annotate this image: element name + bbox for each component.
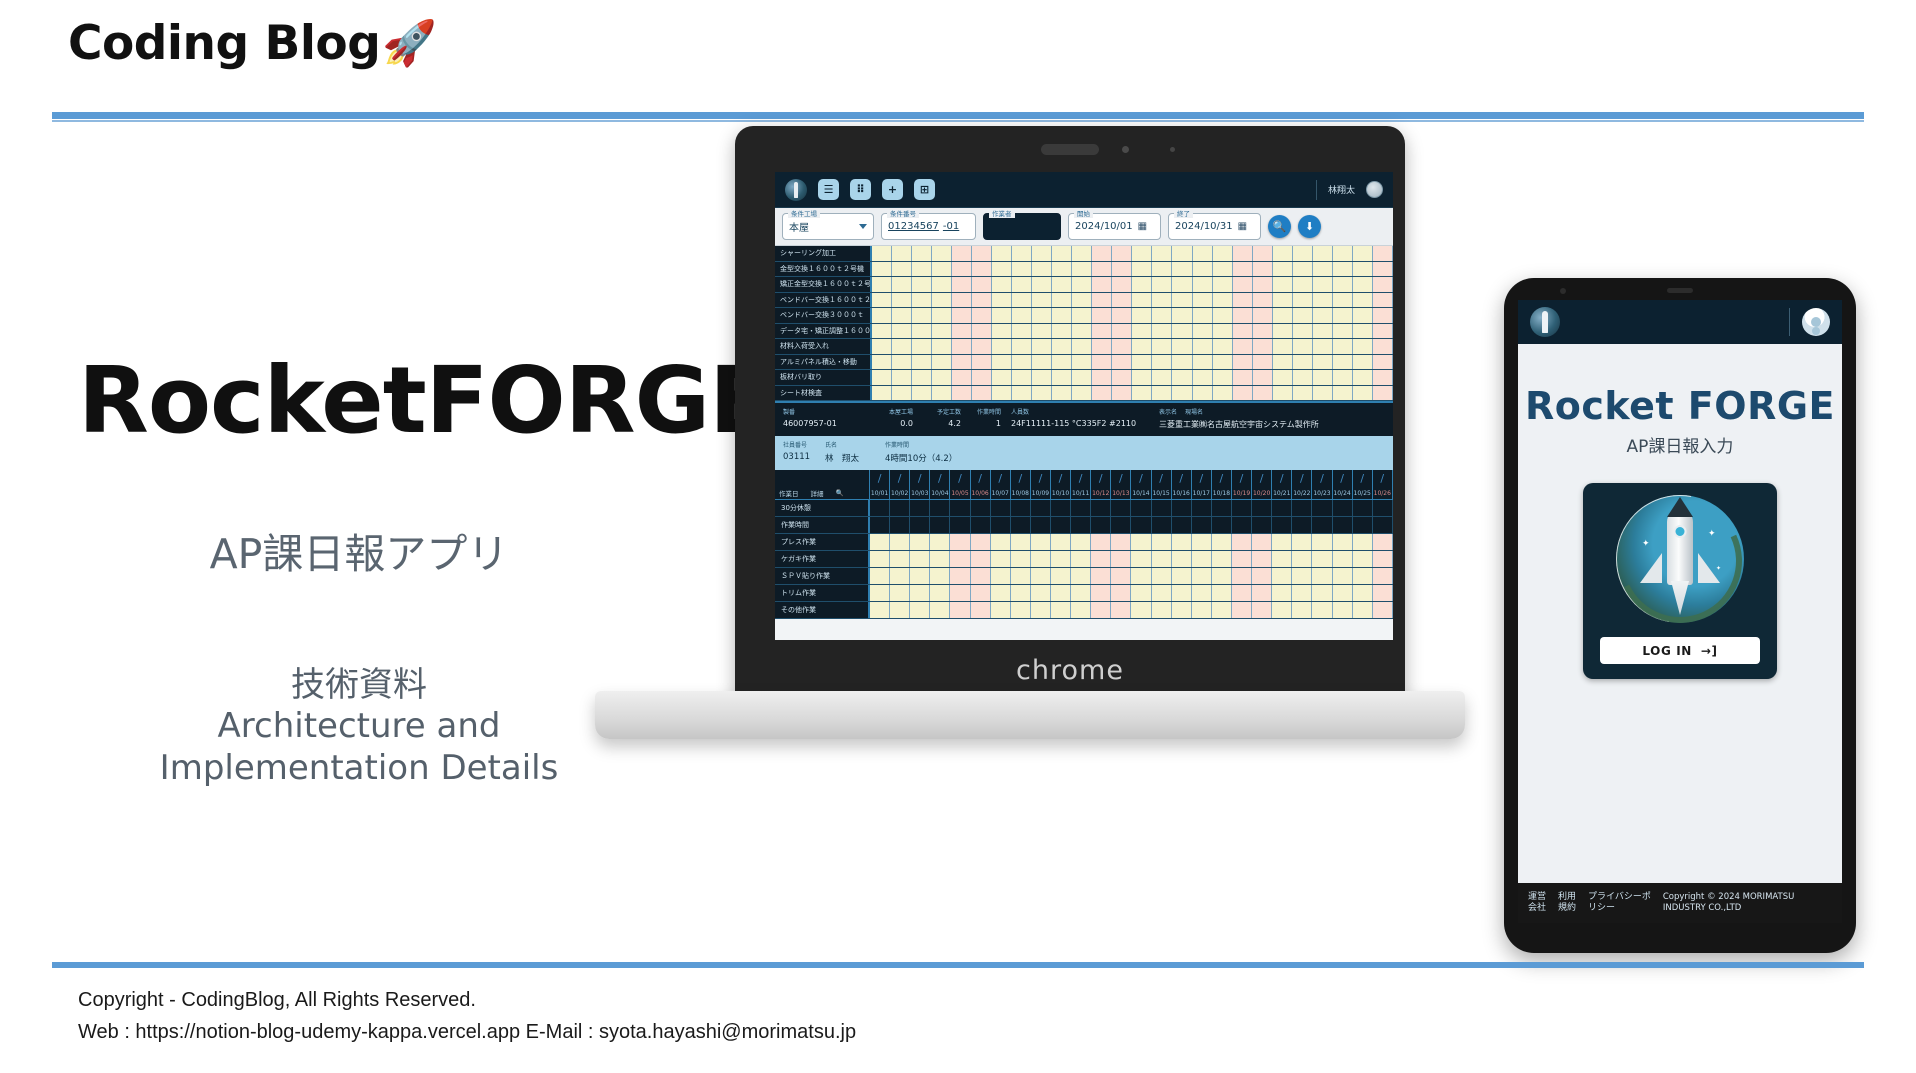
- operation-cell[interactable]: [1032, 386, 1052, 401]
- operation-cell[interactable]: [1172, 277, 1192, 292]
- operation-cell[interactable]: [892, 308, 912, 323]
- operation-cell[interactable]: [912, 370, 932, 385]
- operation-cell[interactable]: [1032, 355, 1052, 370]
- daily-grid-cell[interactable]: [1232, 500, 1252, 516]
- daily-grid-cell[interactable]: [1353, 602, 1373, 618]
- operation-cell[interactable]: [992, 293, 1012, 308]
- operation-cell[interactable]: [1012, 339, 1032, 354]
- operation-cell[interactable]: [932, 262, 952, 277]
- daily-grid-cell[interactable]: [1212, 500, 1232, 516]
- add-doc-icon[interactable]: ⊞: [914, 179, 935, 200]
- daily-grid-cell[interactable]: [1252, 551, 1272, 567]
- operation-cell[interactable]: [952, 277, 972, 292]
- daily-grid-cell[interactable]: [1071, 500, 1091, 516]
- operation-cell[interactable]: [1172, 262, 1192, 277]
- operation-cell[interactable]: [1333, 262, 1353, 277]
- operation-cell[interactable]: [1353, 370, 1373, 385]
- operation-cell[interactable]: [972, 262, 992, 277]
- daily-grid-cell[interactable]: [1131, 551, 1151, 567]
- daily-grid-cell[interactable]: [1071, 568, 1091, 584]
- operation-cell[interactable]: [1373, 355, 1393, 370]
- operation-cell[interactable]: [1193, 355, 1213, 370]
- operation-cell[interactable]: [872, 277, 892, 292]
- operation-cell[interactable]: [952, 293, 972, 308]
- operation-cell[interactable]: [1193, 277, 1213, 292]
- slash-cell[interactable]: /: [1272, 470, 1292, 487]
- operation-cell[interactable]: [1132, 355, 1152, 370]
- daily-grid-cell[interactable]: [1272, 602, 1292, 618]
- operation-cell[interactable]: [1293, 355, 1313, 370]
- daily-grid-cell[interactable]: [930, 585, 950, 601]
- operation-cell[interactable]: [1313, 370, 1333, 385]
- operation-cell[interactable]: [912, 355, 932, 370]
- daily-grid-cell[interactable]: [1353, 500, 1373, 516]
- operation-cell[interactable]: [1092, 308, 1112, 323]
- operation-cell[interactable]: [1012, 355, 1032, 370]
- operation-cell[interactable]: [1012, 277, 1032, 292]
- daily-grid-cell[interactable]: [1272, 500, 1292, 516]
- operation-cell[interactable]: [1132, 308, 1152, 323]
- daily-grid-cell[interactable]: [1212, 517, 1232, 533]
- operation-cell[interactable]: [1273, 246, 1293, 261]
- daily-grid-cell[interactable]: [950, 517, 970, 533]
- daily-grid-cell[interactable]: [1312, 517, 1332, 533]
- operation-cell[interactable]: [1313, 308, 1333, 323]
- operation-cell[interactable]: [1313, 355, 1333, 370]
- slash-cell[interactable]: /: [1212, 470, 1232, 487]
- daily-grid-cell[interactable]: [1031, 551, 1051, 567]
- daily-grid-cell[interactable]: [930, 568, 950, 584]
- operation-cell[interactable]: [1353, 355, 1373, 370]
- daily-grid-cell[interactable]: [930, 517, 950, 533]
- daily-grid-cell[interactable]: [1131, 602, 1151, 618]
- slash-cell[interactable]: /: [1031, 470, 1051, 487]
- daily-grid-cell[interactable]: [1131, 517, 1151, 533]
- operation-cell[interactable]: [892, 339, 912, 354]
- operation-cell[interactable]: [1193, 308, 1213, 323]
- daily-grid-cell[interactable]: [930, 500, 950, 516]
- operation-cell[interactable]: [1273, 293, 1293, 308]
- daily-grid-cell[interactable]: [1373, 602, 1393, 618]
- magnifier-icon[interactable]: 🔍: [836, 489, 844, 497]
- daily-grid-cell[interactable]: [1172, 551, 1192, 567]
- daily-grid-cell[interactable]: [1051, 534, 1071, 550]
- operation-cell[interactable]: [1193, 293, 1213, 308]
- operation-cell[interactable]: [912, 386, 932, 401]
- operation-cell[interactable]: [1152, 386, 1172, 401]
- operation-cell[interactable]: [1333, 246, 1353, 261]
- operation-cell[interactable]: [1233, 386, 1253, 401]
- operation-cell[interactable]: [972, 370, 992, 385]
- operation-cell[interactable]: [1152, 262, 1172, 277]
- daily-grid-cell[interactable]: [1152, 534, 1172, 550]
- daily-grid-cell[interactable]: [991, 551, 1011, 567]
- daily-grid-cell[interactable]: [1152, 602, 1172, 618]
- operation-cell[interactable]: [1112, 293, 1132, 308]
- start-date-field[interactable]: 開始 2024/10/01 ▦: [1068, 213, 1161, 240]
- operation-cell[interactable]: [892, 293, 912, 308]
- operation-cell[interactable]: [952, 370, 972, 385]
- operation-cell[interactable]: [1072, 262, 1092, 277]
- operation-cell[interactable]: [912, 262, 932, 277]
- operation-cell[interactable]: [972, 324, 992, 339]
- operation-cell[interactable]: [1032, 293, 1052, 308]
- operation-cell[interactable]: [1032, 246, 1052, 261]
- daily-grid-cell[interactable]: [991, 602, 1011, 618]
- operation-cell[interactable]: [1092, 370, 1112, 385]
- footer-link-terms[interactable]: 利用 規約: [1558, 892, 1576, 915]
- daily-grid-cell[interactable]: [930, 602, 950, 618]
- operation-cell[interactable]: [1072, 324, 1092, 339]
- operation-cell[interactable]: [1353, 386, 1373, 401]
- daily-grid-cell[interactable]: [1333, 568, 1353, 584]
- slash-cell[interactable]: /: [991, 470, 1011, 487]
- operation-cell[interactable]: [1273, 339, 1293, 354]
- operation-cell[interactable]: [1293, 339, 1313, 354]
- operation-cell[interactable]: [972, 277, 992, 292]
- operation-cell[interactable]: [1172, 339, 1192, 354]
- daily-grid-cell[interactable]: [1292, 602, 1312, 618]
- daily-grid-cell[interactable]: [971, 500, 991, 516]
- operation-cell[interactable]: [1233, 370, 1253, 385]
- daily-grid-cell[interactable]: [1353, 551, 1373, 567]
- daily-grid-cell[interactable]: [870, 500, 890, 516]
- operation-cell[interactable]: [892, 386, 912, 401]
- operation-cell[interactable]: [912, 246, 932, 261]
- daily-grid-cell[interactable]: [1312, 602, 1332, 618]
- daily-grid-cell[interactable]: [1333, 534, 1353, 550]
- operation-cell[interactable]: [1193, 324, 1213, 339]
- operation-cell[interactable]: [1112, 277, 1132, 292]
- slash-cell[interactable]: /: [971, 470, 991, 487]
- operation-cell[interactable]: [972, 246, 992, 261]
- daily-grid-cell[interactable]: [1212, 585, 1232, 601]
- operation-cell[interactable]: [992, 262, 1012, 277]
- daily-grid-cell[interactable]: [1292, 568, 1312, 584]
- operation-cell[interactable]: [1012, 370, 1032, 385]
- operation-cell[interactable]: [1193, 246, 1213, 261]
- daily-grid-cell[interactable]: [1152, 585, 1172, 601]
- slash-cell[interactable]: /: [910, 470, 930, 487]
- operation-cell[interactable]: [1112, 339, 1132, 354]
- operation-cell[interactable]: [872, 293, 892, 308]
- daily-grid-cell[interactable]: [1292, 534, 1312, 550]
- operation-cell[interactable]: [1172, 293, 1192, 308]
- user-avatar-icon[interactable]: [1802, 308, 1830, 336]
- operation-cell[interactable]: [1072, 355, 1092, 370]
- operation-cell[interactable]: [1092, 262, 1112, 277]
- slash-cell[interactable]: /: [870, 470, 890, 487]
- daily-grid-cell[interactable]: [1292, 585, 1312, 601]
- daily-grid-cell[interactable]: [870, 585, 890, 601]
- daily-grid-cell[interactable]: [1131, 585, 1151, 601]
- daily-grid-cell[interactable]: [1252, 585, 1272, 601]
- slash-cell[interactable]: /: [1192, 470, 1212, 487]
- footer-link-privacy[interactable]: プライバシーポ リシー: [1588, 892, 1651, 915]
- slash-cell[interactable]: /: [1292, 470, 1312, 487]
- operation-cell[interactable]: [932, 324, 952, 339]
- operation-cell[interactable]: [1273, 355, 1293, 370]
- operation-cell[interactable]: [952, 386, 972, 401]
- operation-cell[interactable]: [1233, 355, 1253, 370]
- daily-grid-cell[interactable]: [1333, 500, 1353, 516]
- operation-cell[interactable]: [912, 293, 932, 308]
- daily-grid-cell[interactable]: [950, 500, 970, 516]
- operation-cell[interactable]: [872, 262, 892, 277]
- operation-cell[interactable]: [1373, 293, 1393, 308]
- operation-cell[interactable]: [992, 246, 1012, 261]
- daily-grid-cell[interactable]: [950, 585, 970, 601]
- slash-cell[interactable]: /: [1333, 470, 1353, 487]
- daily-grid-cell[interactable]: [890, 602, 910, 618]
- daily-grid-cell[interactable]: [1152, 500, 1172, 516]
- daily-grid-cell[interactable]: [1111, 602, 1131, 618]
- daily-grid-cell[interactable]: [1172, 585, 1192, 601]
- operation-cell[interactable]: [1032, 277, 1052, 292]
- operation-cell[interactable]: [1353, 277, 1373, 292]
- daily-grid-cell[interactable]: [1232, 585, 1252, 601]
- search-icon[interactable]: 🔍: [1268, 215, 1291, 238]
- operation-cell[interactable]: [1092, 386, 1112, 401]
- slash-cell[interactable]: /: [1091, 470, 1111, 487]
- daily-grid-cell[interactable]: [1051, 568, 1071, 584]
- daily-grid-cell[interactable]: [1172, 517, 1192, 533]
- daily-grid-cell[interactable]: [1131, 568, 1151, 584]
- daily-grid-cell[interactable]: [1252, 568, 1272, 584]
- operation-cell[interactable]: [872, 339, 892, 354]
- daily-grid-cell[interactable]: [971, 602, 991, 618]
- operation-cell[interactable]: [912, 324, 932, 339]
- operation-cell[interactable]: [872, 355, 892, 370]
- operation-cell[interactable]: [1132, 339, 1152, 354]
- operation-cell[interactable]: [872, 246, 892, 261]
- operation-cell[interactable]: [992, 386, 1012, 401]
- operation-cell[interactable]: [992, 355, 1012, 370]
- operation-cell[interactable]: [1152, 308, 1172, 323]
- operation-cell[interactable]: [1293, 324, 1313, 339]
- daily-grid-cell[interactable]: [950, 602, 970, 618]
- operation-cell[interactable]: [1253, 370, 1273, 385]
- operation-cell[interactable]: [972, 339, 992, 354]
- daily-grid-cell[interactable]: [1312, 500, 1332, 516]
- operation-cell[interactable]: [1012, 293, 1032, 308]
- daily-grid-cell[interactable]: [1131, 534, 1151, 550]
- operation-cell[interactable]: [1373, 370, 1393, 385]
- operation-cell[interactable]: [1172, 370, 1192, 385]
- daily-grid-cell[interactable]: [1051, 551, 1071, 567]
- operation-cell[interactable]: [1152, 355, 1172, 370]
- operation-cell[interactable]: [1273, 262, 1293, 277]
- operation-cell[interactable]: [932, 370, 952, 385]
- daily-grid-cell[interactable]: [1292, 551, 1312, 567]
- daily-grid-cell[interactable]: [971, 568, 991, 584]
- slash-cell[interactable]: /: [1252, 470, 1272, 487]
- daily-grid-cell[interactable]: [1333, 585, 1353, 601]
- slash-cell[interactable]: /: [1131, 470, 1151, 487]
- daily-grid-cell[interactable]: [1152, 551, 1172, 567]
- operation-cell[interactable]: [1112, 355, 1132, 370]
- slash-cell[interactable]: /: [1051, 470, 1071, 487]
- operation-cell[interactable]: [1193, 339, 1213, 354]
- daily-grid-cell[interactable]: [1272, 551, 1292, 567]
- operation-cell[interactable]: [932, 277, 952, 292]
- daily-grid-cell[interactable]: [1011, 602, 1031, 618]
- operation-cell[interactable]: [992, 308, 1012, 323]
- slash-cell[interactable]: /: [1353, 470, 1373, 487]
- operation-cell[interactable]: [972, 308, 992, 323]
- operation-cell[interactable]: [1112, 262, 1132, 277]
- download-icon[interactable]: ⬇: [1298, 215, 1321, 238]
- operation-cell[interactable]: [932, 246, 952, 261]
- operation-cell[interactable]: [1072, 277, 1092, 292]
- daily-grid-cell[interactable]: [1051, 517, 1071, 533]
- operation-cell[interactable]: [1313, 386, 1333, 401]
- operation-cell[interactable]: [1253, 277, 1273, 292]
- operation-cell[interactable]: [1032, 262, 1052, 277]
- operation-cell[interactable]: [1233, 246, 1253, 261]
- operation-cell[interactable]: [1092, 277, 1112, 292]
- operation-cell[interactable]: [1112, 246, 1132, 261]
- operation-cell[interactable]: [1152, 324, 1172, 339]
- operation-cell[interactable]: [1132, 246, 1152, 261]
- operation-cell[interactable]: [1253, 355, 1273, 370]
- daily-grid-cell[interactable]: [1071, 517, 1091, 533]
- operation-cell[interactable]: [1233, 308, 1253, 323]
- operation-cell[interactable]: [1152, 246, 1172, 261]
- daily-grid-cell[interactable]: [1252, 602, 1272, 618]
- operation-cell[interactable]: [1313, 262, 1333, 277]
- daily-grid-cell[interactable]: [1212, 534, 1232, 550]
- end-date-field[interactable]: 終了 2024/10/31 ▦: [1168, 213, 1261, 240]
- operation-cell[interactable]: [1152, 293, 1172, 308]
- operation-cell[interactable]: [1112, 324, 1132, 339]
- operation-cell[interactable]: [1052, 262, 1072, 277]
- calendar-icon-end[interactable]: ▦: [1238, 221, 1247, 232]
- slash-cell[interactable]: /: [1071, 470, 1091, 487]
- slash-cell[interactable]: /: [1111, 470, 1131, 487]
- calendar-icon[interactable]: ▦: [1138, 221, 1147, 232]
- operation-cell[interactable]: [1353, 324, 1373, 339]
- operation-cell[interactable]: [992, 277, 1012, 292]
- daily-grid-cell[interactable]: [870, 602, 890, 618]
- operation-cell[interactable]: [1333, 308, 1353, 323]
- operation-cell[interactable]: [1052, 339, 1072, 354]
- operation-cell[interactable]: [912, 308, 932, 323]
- daily-grid-cell[interactable]: [1272, 534, 1292, 550]
- daily-grid-cell[interactable]: [1031, 602, 1051, 618]
- operation-cell[interactable]: [1213, 386, 1233, 401]
- daily-grid-cell[interactable]: [1091, 517, 1111, 533]
- operation-cell[interactable]: [1233, 293, 1253, 308]
- daily-grid-cell[interactable]: [1091, 534, 1111, 550]
- operation-cell[interactable]: [1333, 339, 1353, 354]
- daily-grid-cell[interactable]: [1353, 585, 1373, 601]
- daily-grid-cell[interactable]: [1011, 551, 1031, 567]
- daily-grid-cell[interactable]: [1312, 534, 1332, 550]
- login-button[interactable]: LOG IN →]: [1600, 637, 1760, 664]
- daily-grid-cell[interactable]: [1172, 534, 1192, 550]
- daily-grid-cell[interactable]: [1152, 568, 1172, 584]
- operation-cell[interactable]: [1273, 386, 1293, 401]
- operation-cell[interactable]: [1253, 262, 1273, 277]
- daily-grid-cell[interactable]: [1091, 551, 1111, 567]
- operation-cell[interactable]: [1112, 308, 1132, 323]
- operation-cell[interactable]: [972, 386, 992, 401]
- operation-cell[interactable]: [1052, 308, 1072, 323]
- operation-cell[interactable]: [1253, 308, 1273, 323]
- operation-cell[interactable]: [1333, 277, 1353, 292]
- daily-grid-cell[interactable]: [910, 534, 930, 550]
- operation-cell[interactable]: [1052, 293, 1072, 308]
- daily-grid-cell[interactable]: [1272, 517, 1292, 533]
- daily-grid-cell[interactable]: [1172, 602, 1192, 618]
- daily-grid-cell[interactable]: [1192, 602, 1212, 618]
- operation-cell[interactable]: [1012, 262, 1032, 277]
- operation-cell[interactable]: [892, 355, 912, 370]
- daily-grid-cell[interactable]: [1212, 602, 1232, 618]
- daily-grid-cell[interactable]: [971, 517, 991, 533]
- operation-cell[interactable]: [1132, 370, 1152, 385]
- daily-grid-cell[interactable]: [890, 500, 910, 516]
- daily-grid-cell[interactable]: [1111, 534, 1131, 550]
- daily-grid-cell[interactable]: [1031, 517, 1051, 533]
- operation-cell[interactable]: [1373, 262, 1393, 277]
- operation-cell[interactable]: [1092, 293, 1112, 308]
- order-number-field[interactable]: 条件番号 01234567 -01: [881, 213, 976, 240]
- daily-grid-cell[interactable]: [1071, 551, 1091, 567]
- operation-cell[interactable]: [1032, 308, 1052, 323]
- operation-cell[interactable]: [1112, 370, 1132, 385]
- worker-field[interactable]: 作業者: [983, 213, 1061, 240]
- operation-cell[interactable]: [1172, 324, 1192, 339]
- operation-cell[interactable]: [892, 246, 912, 261]
- operation-cell[interactable]: [1353, 293, 1373, 308]
- operation-cell[interactable]: [1072, 370, 1092, 385]
- daily-grid-cell[interactable]: [930, 551, 950, 567]
- operation-cell[interactable]: [1293, 370, 1313, 385]
- daily-grid-cell[interactable]: [1011, 585, 1031, 601]
- daily-grid-cell[interactable]: [910, 585, 930, 601]
- operation-cell[interactable]: [1032, 339, 1052, 354]
- operation-cell[interactable]: [1172, 308, 1192, 323]
- operation-cell[interactable]: [892, 277, 912, 292]
- operation-cell[interactable]: [1132, 277, 1152, 292]
- operation-cell[interactable]: [872, 324, 892, 339]
- daily-grid-cell[interactable]: [1232, 534, 1252, 550]
- daily-grid-cell[interactable]: [1212, 568, 1232, 584]
- daily-grid-cell[interactable]: [1292, 500, 1312, 516]
- daily-grid-cell[interactable]: [950, 568, 970, 584]
- slash-cell[interactable]: /: [930, 470, 950, 487]
- daily-grid-cell[interactable]: [1312, 585, 1332, 601]
- operation-cell[interactable]: [992, 324, 1012, 339]
- operation-cell[interactable]: [1213, 262, 1233, 277]
- operation-cell[interactable]: [1293, 293, 1313, 308]
- operation-cell[interactable]: [952, 246, 972, 261]
- daily-grid-cell[interactable]: [1252, 517, 1272, 533]
- operation-cell[interactable]: [892, 370, 912, 385]
- daily-grid-cell[interactable]: [1031, 568, 1051, 584]
- daily-grid-cell[interactable]: [1031, 500, 1051, 516]
- daily-grid-cell[interactable]: [1192, 534, 1212, 550]
- daily-grid-cell[interactable]: [1192, 551, 1212, 567]
- operation-cell[interactable]: [872, 308, 892, 323]
- operation-cell[interactable]: [972, 355, 992, 370]
- operation-cell[interactable]: [952, 339, 972, 354]
- daily-grid-cell[interactable]: [991, 517, 1011, 533]
- daily-grid-cell[interactable]: [890, 585, 910, 601]
- daily-grid-cell[interactable]: [890, 517, 910, 533]
